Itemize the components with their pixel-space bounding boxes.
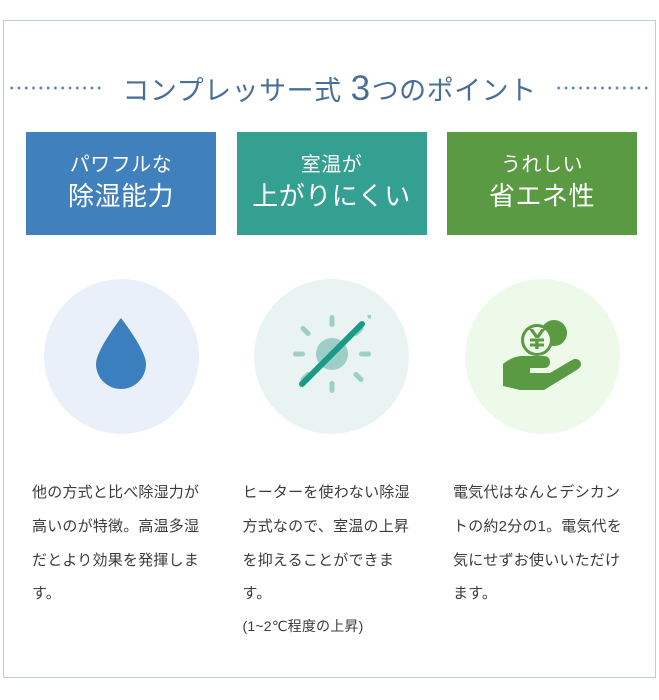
title-number: 3: [342, 71, 372, 106]
point-column-energy-saving: うれしい 省エネ性: [447, 132, 637, 643]
point-body-text: 電気代はなんとデシカントの約2分の1。電気代を気にせずお使いいただけます。: [453, 476, 631, 611]
no-heat-sun-icon: [293, 315, 371, 398]
body-paragraph: 電気代はなんとデシカントの約2分の1。電気代を気にせずお使いいただけます。: [453, 484, 622, 602]
infographic-panel: コンプレッサー式 3 つのポイント パワフルな 除湿能力 他の方式と比べ除湿力が…: [3, 20, 656, 678]
icon-circle: [254, 279, 409, 434]
heading-line-2: 除湿能力: [68, 179, 174, 214]
point-heading-box: パワフルな 除湿能力: [26, 132, 216, 235]
point-column-dehumidifying: パワフルな 除湿能力 他の方式と比べ除湿力が高いのが特徴。高温多湿だとより効果を…: [26, 132, 216, 643]
point-body-text: ヒーターを使わない除湿方式なので、室温の上昇を抑えることができます。 (1~2℃…: [243, 476, 421, 643]
heading-line-2: 省エネ性: [489, 179, 595, 214]
body-paragraph: ヒーターを使わない除湿方式なので、室温の上昇を抑えることができます。: [243, 484, 410, 602]
section-title-row: コンプレッサー式 3 つのポイント: [4, 65, 655, 111]
heading-line-1: 室温が: [301, 152, 363, 179]
water-drop-icon: [90, 316, 152, 397]
point-column-room-temperature: 室温が 上がりにくい: [237, 132, 427, 643]
heading-line-2: 上がりにくい: [252, 179, 410, 214]
hand-holding-yen-coin-icon: [500, 316, 584, 397]
icon-circle: [465, 279, 620, 434]
dotted-rule-right-icon: [555, 86, 651, 90]
point-heading-box: 室温が 上がりにくい: [237, 132, 427, 235]
icon-circle: [44, 279, 199, 434]
heading-line-1: うれしい: [501, 152, 583, 179]
page-title: コンプレッサー式 3 つのポイント: [122, 71, 536, 106]
dotted-rule-left-icon: [8, 86, 104, 90]
body-note: (1~2℃程度の上昇): [243, 611, 421, 643]
points-columns: パワフルな 除湿能力 他の方式と比べ除湿力が高いのが特徴。高温多湿だとより効果を…: [26, 132, 637, 643]
title-suffix: つのポイント: [372, 78, 537, 105]
body-paragraph: 他の方式と比べ除湿力が高いのが特徴。高温多湿だとより効果を発揮します。: [32, 484, 199, 602]
point-heading-box: うれしい 省エネ性: [447, 132, 637, 235]
heading-line-1: パワフルな: [70, 152, 173, 179]
point-body-text: 他の方式と比べ除湿力が高いのが特徴。高温多湿だとより効果を発揮します。: [32, 476, 210, 611]
title-prefix: コンプレッサー式: [122, 78, 341, 105]
